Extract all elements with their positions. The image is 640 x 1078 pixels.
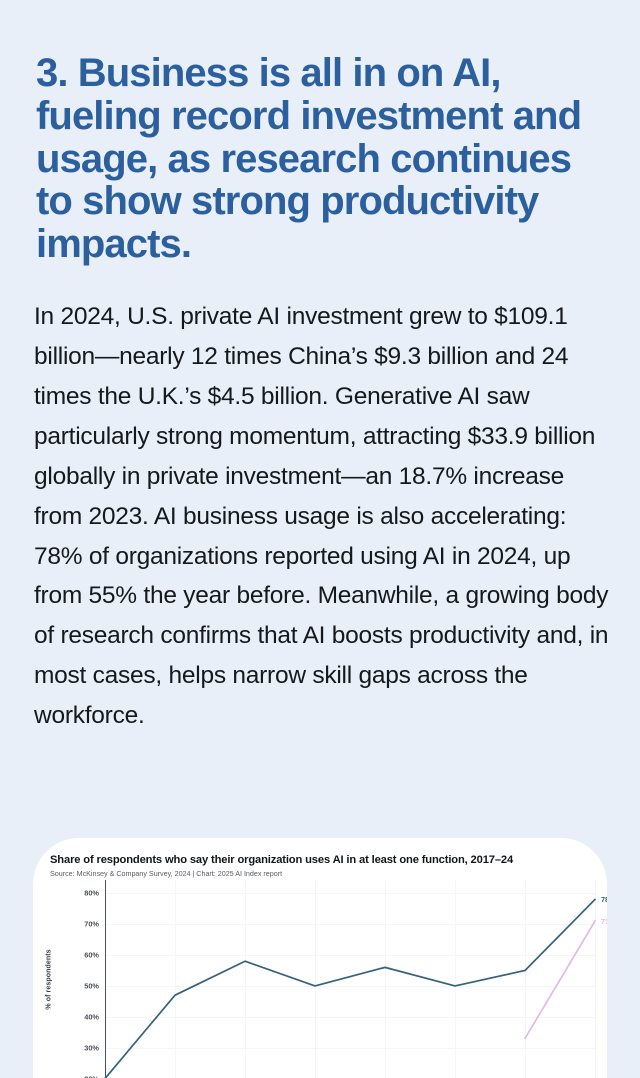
- chart-card: Share of respondents who say their organ…: [33, 838, 607, 1078]
- series-line-genai: [525, 921, 595, 1038]
- series-line-ai: [105, 899, 595, 1078]
- endpoint-label-ai: 78%, AI: [601, 895, 607, 904]
- chart-plot-area: % of respondents 20%30%40%50%60%70%80% 7…: [33, 880, 607, 1078]
- chart-source: Source: McKinsey & Company Survey, 2024 …: [50, 869, 590, 878]
- page-title: 3. Business is all in on AI, fueling rec…: [36, 52, 596, 266]
- chart-series-svg: [33, 880, 607, 1078]
- chart-title: Share of respondents who say their organ…: [50, 854, 590, 866]
- body-paragraph: In 2024, U.S. private AI investment grew…: [34, 297, 614, 736]
- endpoint-label-genai: 71%, GenAI: [601, 917, 607, 926]
- article-page: 3. Business is all in on AI, fueling rec…: [0, 0, 640, 1078]
